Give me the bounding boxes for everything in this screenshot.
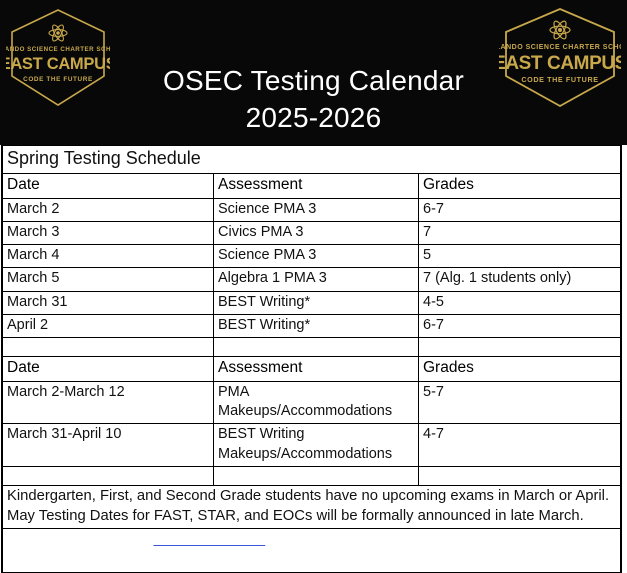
cell-date: March 4 xyxy=(3,245,214,268)
spacer-cell xyxy=(419,338,621,357)
cell-date: March 31 xyxy=(3,291,214,314)
column-header-date[interactable]: Date xyxy=(3,357,214,382)
schedule-header-row: Date Assessment Grades xyxy=(3,173,621,198)
cell-date: April 2 xyxy=(3,314,214,337)
cell-assessment: BEST Writing* xyxy=(214,291,419,314)
cell-date: March 5 xyxy=(3,268,214,291)
band-title-row: Spring Testing Schedule xyxy=(3,146,621,174)
column-header-date[interactable]: Date xyxy=(3,173,214,198)
page-title: OSEC Testing Calendar 2025-2026 xyxy=(0,62,627,136)
table-row: March 4 Science PMA 3 5 xyxy=(3,245,621,268)
note-no-exams-k2: Kindergarten, First, and Second Grade st… xyxy=(3,485,621,528)
header-banner: ORLANDO SCIENCE CHARTER SCHOOL EAST CAMP… xyxy=(0,0,627,145)
table-row: March 3 Civics PMA 3 7 xyxy=(3,221,621,244)
cell-assessment: Science PMA 3 xyxy=(214,245,419,268)
calendar-sheet: Spring Testing Schedule Date Assessment … xyxy=(1,145,622,573)
page-title-line-2: 2025-2026 xyxy=(0,99,627,136)
table-row: March 31-April 10 BEST Writing Makeups/A… xyxy=(3,424,621,467)
svg-text:ORLANDO SCIENCE CHARTER SCHOOL: ORLANDO SCIENCE CHARTER SCHOOL xyxy=(499,44,621,51)
spacer-row xyxy=(3,466,621,485)
cell-date: March 2-March 12 xyxy=(3,381,214,424)
cell-grades: 4-7 xyxy=(419,424,621,467)
note-black-row: *Students with testing accommodations ma… xyxy=(3,529,621,572)
table-row: March 5 Algebra 1 PMA 3 7 (Alg. 1 studen… xyxy=(3,268,621,291)
cell-assessment: Algebra 1 PMA 3 xyxy=(214,268,419,291)
note-gray-row: Kindergarten, First, and Second Grade st… xyxy=(3,485,621,528)
table-row: March 31 BEST Writing* 4-5 xyxy=(3,291,621,314)
spacer-cell xyxy=(214,338,419,357)
svg-text:ORLANDO SCIENCE CHARTER SCHOOL: ORLANDO SCIENCE CHARTER SCHOOL xyxy=(6,46,110,53)
cell-assessment: BEST Writing Makeups/Accommodations xyxy=(214,424,419,467)
column-header-assessment[interactable]: Assessment xyxy=(214,357,419,382)
page-title-line-1: OSEC Testing Calendar xyxy=(163,65,464,96)
cell-date: March 2 xyxy=(3,198,214,221)
note-accommodations: *Students with testing accommodations ma… xyxy=(3,529,621,572)
spacer-cell xyxy=(419,466,621,485)
cell-grades: 7 xyxy=(419,221,621,244)
cell-date: March 31-April 10 xyxy=(3,424,214,467)
column-header-grades[interactable]: Grades xyxy=(419,173,621,198)
column-header-assessment[interactable]: Assessment xyxy=(214,173,419,198)
cell-assessment: Science PMA 3 xyxy=(214,198,419,221)
cell-grades: 7 (Alg. 1 students only) xyxy=(419,268,621,291)
table-row: April 2 BEST Writing* 6-7 xyxy=(3,314,621,337)
cell-date: March 3 xyxy=(3,221,214,244)
cell-assessment: Civics PMA 3 xyxy=(214,221,419,244)
spacer-cell xyxy=(3,338,214,357)
table-row: March 2 Science PMA 3 6-7 xyxy=(3,198,621,221)
cell-assessment: BEST Writing* xyxy=(214,314,419,337)
cell-grades: 6-7 xyxy=(419,314,621,337)
cell-grades: 4-5 xyxy=(419,291,621,314)
cell-grades: 6-7 xyxy=(419,198,621,221)
makeup-header-row: Date Assessment Grades xyxy=(3,357,621,382)
cell-grades: 5-7 xyxy=(419,381,621,424)
note-accommodations-prefix: *Students with testing xyxy=(7,531,153,547)
spring-testing-schedule-band: Spring Testing Schedule xyxy=(3,146,621,174)
testing-calendar-page: ORLANDO SCIENCE CHARTER SCHOOL EAST CAMP… xyxy=(0,0,627,560)
spacer-cell xyxy=(214,466,419,485)
testing-calendar-table: Spring Testing Schedule Date Assessment … xyxy=(2,145,621,573)
cell-assessment: PMA Makeups/Accommodations xyxy=(214,381,419,424)
cell-grades: 5 xyxy=(419,245,621,268)
spacer-row xyxy=(3,338,621,357)
table-row: March 2-March 12 PMA Makeups/Accommodati… xyxy=(3,381,621,424)
accommodations-link[interactable]: accommodations xyxy=(153,531,265,547)
column-header-grades[interactable]: Grades xyxy=(419,357,621,382)
spacer-cell xyxy=(3,466,214,485)
